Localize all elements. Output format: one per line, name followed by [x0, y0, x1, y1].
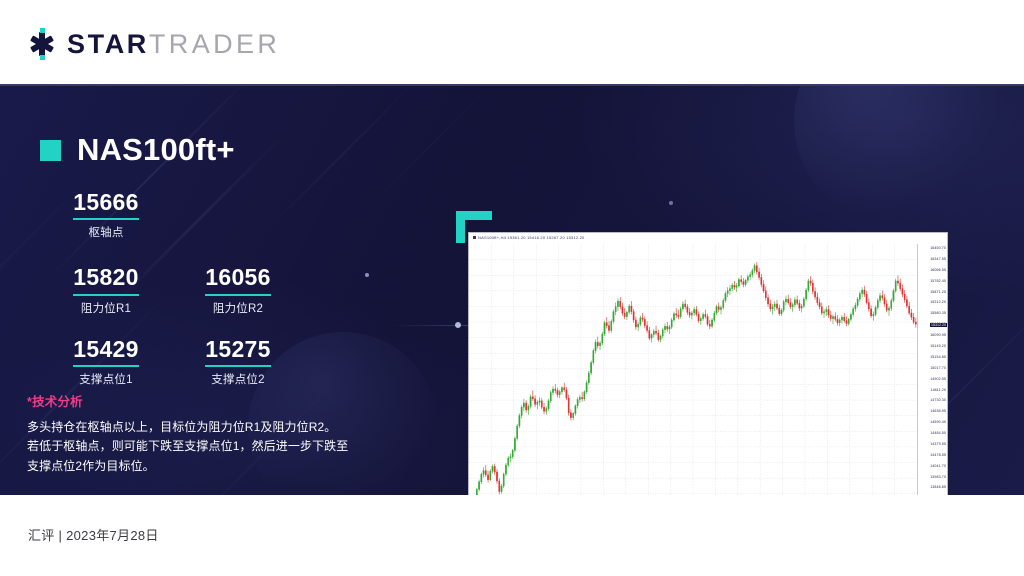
level-value: 15666 — [40, 190, 172, 215]
level-label: 阻力位R2 — [172, 300, 304, 316]
analysis-line: 若低于枢轴点，则可能下跌至支撑点位1，然后进一步下跌至 — [27, 437, 407, 456]
y-axis-tick: 14478.55 — [930, 453, 946, 457]
pivot-levels: 15666 枢轴点 15820 阻力位R1 16056 阻力位R2 15429 — [40, 190, 330, 387]
level-label: 枢轴点 — [40, 224, 172, 240]
decor-orb — [794, 86, 1004, 226]
y-axis-tick: 16066.55 — [930, 268, 946, 272]
level-underline — [73, 365, 139, 367]
y-axis-tick: 14484.50 — [930, 431, 946, 435]
page-header: STAR TRADER — [0, 0, 1024, 86]
chart-marker-icon — [473, 236, 476, 239]
level-label: 阻力位R1 — [40, 300, 172, 316]
y-axis-tick: 14902.55 — [930, 377, 946, 381]
analysis-line: 多头持仓在枢轴点以上，目标位为阻力位R1及阻力位R2。 — [27, 418, 407, 437]
level-value: 15820 — [40, 265, 172, 290]
analysis-heading: *技术分析 — [27, 391, 407, 410]
level-s1: 15429 支撑点位1 — [40, 337, 172, 387]
star-asterisk-icon — [26, 28, 58, 60]
decor-dot — [455, 322, 461, 328]
brand-wordmark: STAR TRADER — [67, 29, 280, 60]
y-axis-tick: 14811.20 — [930, 388, 946, 392]
current-price-label: 15312.20 — [930, 323, 947, 327]
level-value: 15429 — [40, 337, 172, 362]
level-r1: 15820 阻力位R1 — [40, 265, 172, 315]
level-spacer — [172, 190, 304, 240]
brand-name-primary: STAR — [67, 29, 149, 60]
page-footer: 汇评 | 2023年7月28日 — [0, 495, 1024, 576]
y-axis-tick: 16450.70 — [930, 246, 946, 250]
decor-dot — [365, 273, 369, 277]
y-axis-tick: 13846.85 — [930, 485, 946, 489]
y-axis-tick: 15580.35 — [930, 311, 946, 315]
price-chart[interactable]: NAS100ft+,H4 15361.20 15416.20 15267.20 … — [468, 232, 948, 495]
chart-y-axis: 16450.7016347.5516066.5515782.4015871.25… — [917, 244, 947, 495]
y-axis-tick: 14041.70 — [930, 464, 946, 468]
y-axis-tick: 13983.70 — [930, 475, 946, 479]
main-stage: NAS100ft+ 15666 枢轴点 15820 阻力位R1 16056 阻力… — [0, 86, 1024, 495]
technical-analysis: *技术分析 多头持仓在枢轴点以上，目标位为阻力位R1及阻力位R2。 若低于枢轴点… — [27, 391, 407, 476]
y-axis-tick: 14590.40 — [930, 420, 946, 424]
y-axis-tick: 15149.20 — [930, 344, 946, 348]
level-value: 16056 — [172, 265, 304, 290]
logo-accent-dot-top — [40, 28, 45, 33]
chart-header-label: NAS100ft+,H4 15361.20 15416.20 15267.20 … — [469, 233, 947, 244]
candlestick-series — [469, 244, 917, 495]
analysis-body: 多头持仓在枢轴点以上，目标位为阻力位R1及阻力位R2。 若低于枢轴点，则可能下跌… — [27, 418, 407, 476]
y-axis-tick: 16347.55 — [930, 257, 946, 261]
level-value: 15275 — [172, 337, 304, 362]
chart-plot-area[interactable] — [469, 244, 917, 495]
level-pivot: 15666 枢轴点 — [40, 190, 172, 240]
page-title: NAS100ft+ — [77, 132, 235, 168]
analysis-line: 支撑点位2作为目标位。 — [27, 457, 407, 476]
level-label: 支撑点位2 — [172, 371, 304, 387]
pivot-row: 15666 枢轴点 — [40, 190, 330, 240]
y-axis-tick: 15154.85 — [930, 355, 946, 359]
y-axis-tick: 15782.40 — [930, 279, 946, 283]
brand-logo: STAR TRADER — [26, 28, 280, 60]
y-axis-tick: 14636.95 — [930, 409, 946, 413]
level-r2: 16056 阻力位R2 — [172, 265, 304, 315]
square-bullet-icon — [40, 140, 61, 161]
brand-name-secondary: TRADER — [149, 29, 280, 60]
chart-header-text: NAS100ft+,H4 15361.20 15416.20 15267.20 … — [478, 235, 584, 240]
level-underline — [205, 294, 271, 296]
y-axis-tick: 16090.95 — [930, 333, 946, 337]
y-axis-tick: 14730.30 — [930, 398, 946, 402]
support-row: 15429 支撑点位1 15275 支撑点位2 — [40, 337, 330, 387]
level-s2: 15275 支撑点位2 — [172, 337, 304, 387]
level-underline — [205, 365, 271, 367]
y-axis-tick: 15017.70 — [930, 366, 946, 370]
level-label: 支撑点位1 — [40, 371, 172, 387]
decor-streak — [374, 89, 488, 203]
y-axis-tick: 15312.20 — [930, 300, 946, 304]
resistance-row: 15820 阻力位R1 16056 阻力位R2 — [40, 265, 330, 315]
footer-caption: 汇评 | 2023年7月28日 — [28, 525, 159, 544]
y-axis-tick: 14379.55 — [930, 442, 946, 446]
logo-accent-dot-bottom — [40, 55, 45, 60]
instrument-title: NAS100ft+ — [40, 132, 235, 168]
level-underline — [73, 294, 139, 296]
level-underline — [73, 218, 139, 220]
y-axis-tick: 15871.25 — [930, 290, 946, 294]
decor-dot — [669, 201, 673, 205]
